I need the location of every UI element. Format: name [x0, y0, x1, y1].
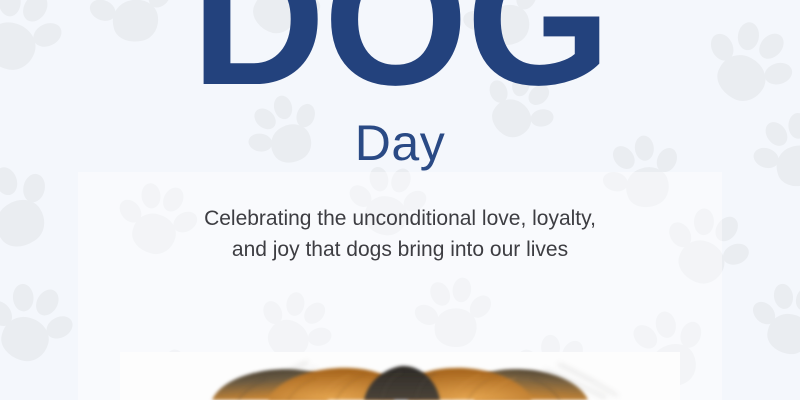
poster-content: DOG Day Celebrating the unconditional lo… [0, 0, 800, 400]
tagline: Celebrating the unconditional love, loya… [0, 203, 800, 265]
dog-photo [120, 352, 680, 400]
tagline-line-2: and joy that dogs bring into our lives [0, 234, 800, 265]
dog-day-poster: DOG Day Celebrating the unconditional lo… [0, 0, 800, 400]
page-title: DOG [0, 0, 800, 114]
tagline-line-1: Celebrating the unconditional love, loya… [0, 203, 800, 234]
page-subtitle-word: Day [0, 118, 800, 168]
